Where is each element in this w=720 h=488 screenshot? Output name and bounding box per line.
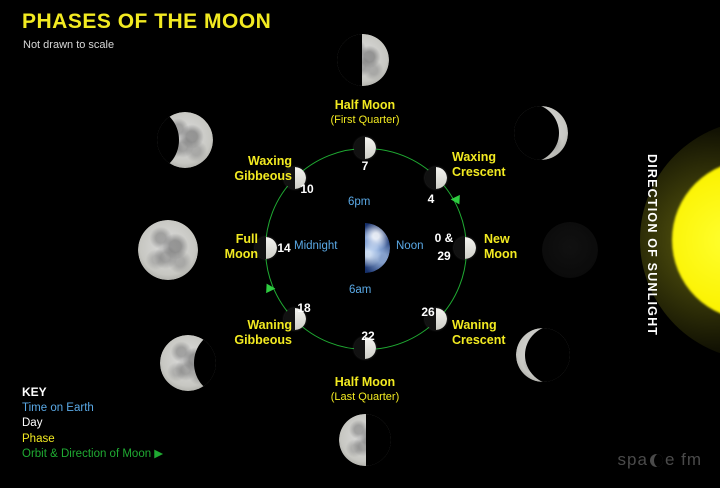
day-number-10: 10 <box>297 182 317 196</box>
time-label-midnight: Midnight <box>294 240 337 252</box>
day-number-18: 18 <box>294 301 314 315</box>
legend: KEY Time on Earth Day Phase Orbit & Dire… <box>22 385 163 463</box>
orbit-marker-day-0-29 <box>454 237 476 259</box>
moon-photo-first-quarter <box>337 34 389 86</box>
moon-photo-last-quarter <box>339 414 391 466</box>
logo-text-post: e fm <box>665 450 702 470</box>
moon-phases-diagram: DIRECTION OF SUNLIGHT PHASES OF THE MOON… <box>0 0 720 488</box>
day-number-0: 0 & <box>431 231 457 245</box>
orbit-marker-day-7 <box>354 137 376 159</box>
page-subtitle: Not drawn to scale <box>23 39 114 51</box>
legend-heading: KEY <box>22 385 163 401</box>
time-label-noon: Noon <box>396 240 424 252</box>
legend-item-phase: Phase <box>22 432 163 448</box>
phase-label-full-moon: Full Moon <box>196 232 258 262</box>
day-number-29: 29 <box>431 249 457 263</box>
moon-photo-waning-crescent <box>516 328 570 382</box>
legend-item-orbit: Orbit & Direction of Moon ▶ <box>22 447 163 463</box>
phase-name-crescent: Crescent <box>452 165 548 180</box>
day-number-7: 7 <box>358 159 372 173</box>
moon-photo-new-moon <box>542 222 598 278</box>
phase-name-gibbeous: Gibbeous <box>186 169 292 184</box>
day-number-4: 4 <box>424 192 438 206</box>
phase-sub-last-quarter: (Last Quarter) <box>300 390 430 405</box>
phase-sub-first-quarter: (First Quarter) <box>300 113 430 128</box>
phase-name-full: Full <box>196 232 258 247</box>
phase-name-moon-2: Moon <box>196 247 258 262</box>
time-label-6am: 6am <box>349 284 371 296</box>
earth-day-side <box>365 223 390 273</box>
phase-label-last-quarter: Half Moon (Last Quarter) <box>300 375 430 405</box>
phase-label-first-quarter: Half Moon (First Quarter) <box>300 98 430 128</box>
moon-photo-waxing-crescent <box>514 106 568 160</box>
space-fm-logo[interactable]: spa e fm <box>618 450 702 470</box>
earth-night-side <box>340 223 365 273</box>
day-number-14: 14 <box>274 241 294 255</box>
moon-photo-waning-gibbeous <box>160 335 216 391</box>
legend-item-day: Day <box>22 416 163 432</box>
direction-of-sunlight-label: DIRECTION OF SUNLIGHT <box>640 130 664 360</box>
page-title: PHASES OF THE MOON <box>22 10 271 34</box>
orbit-marker-day-4 <box>425 167 447 189</box>
day-number-22: 22 <box>358 329 378 343</box>
time-label-6pm: 6pm <box>348 196 370 208</box>
phase-name-waning-g: Waning <box>196 318 292 333</box>
day-number-26: 26 <box>418 305 438 319</box>
logo-text-pre: spa <box>618 450 648 470</box>
moon-photo-waxing-gibbeous <box>157 112 213 168</box>
earth <box>340 223 390 273</box>
legend-item-time-on-earth: Time on Earth <box>22 401 163 417</box>
moon-photo-full-moon <box>138 220 198 280</box>
phase-name-half-moon-last: Half Moon <box>300 375 430 390</box>
phase-name-half-moon-first: Half Moon <box>300 98 430 113</box>
crescent-moon-icon <box>650 454 663 467</box>
